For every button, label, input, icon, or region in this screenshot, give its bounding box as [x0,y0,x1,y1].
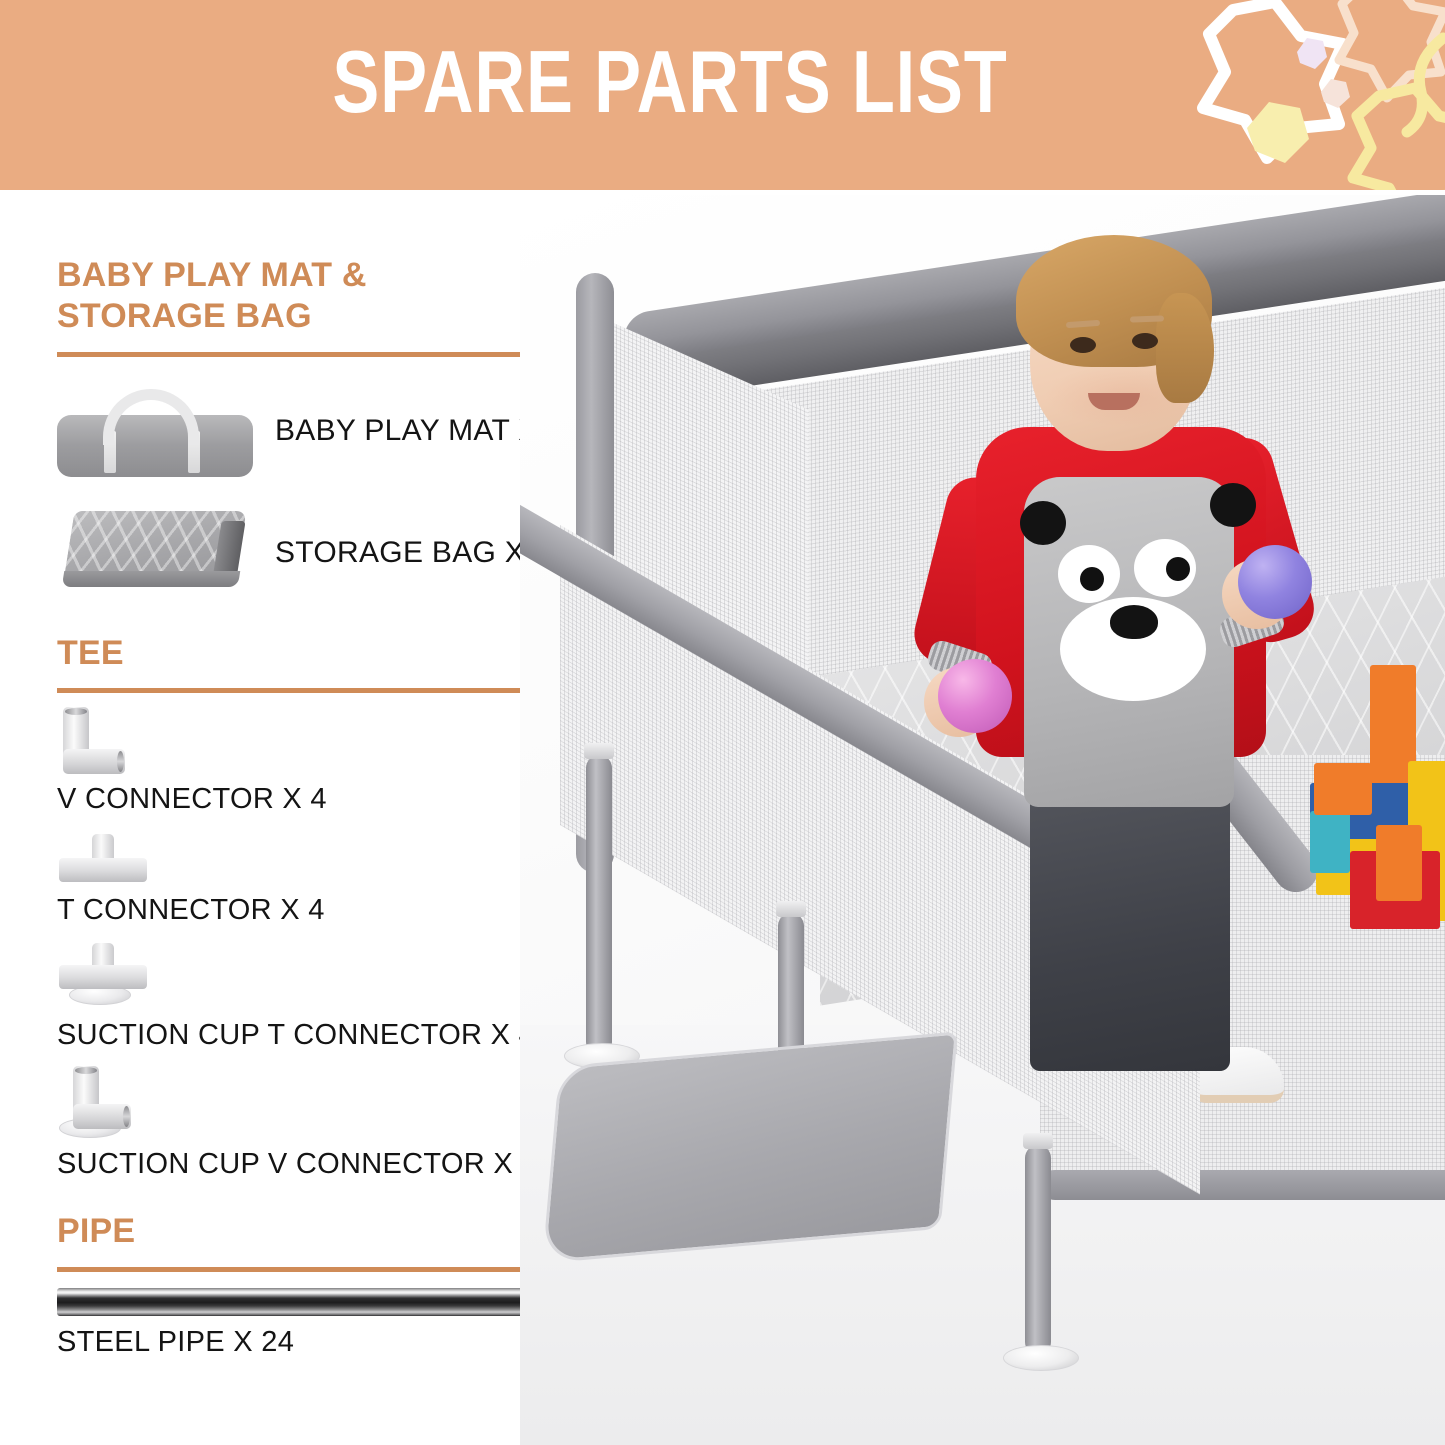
part-item-storage-bag: STORAGE BAG X 1 [57,505,582,601]
part-item-v-connector: V CONNECTOR X 4 [57,707,582,816]
section-divider [57,688,577,693]
section-mat-bag: BABY PLAY MAT & STORAGE BAG BABY PLAY MA… [57,255,582,601]
part-label-storage-bag: STORAGE BAG X 1 [275,536,551,570]
page-title: SPARE PARTS LIST [134,38,1206,126]
part-label-steel-pipe: STEEL PIPE X 24 [57,1326,582,1359]
part-item-suction-cup-v-connector: SUCTION CUP V CONNECTOR X 4 [57,1066,582,1181]
section-divider [57,1267,577,1272]
baby-playpen [520,195,1445,1445]
folded-mat-icon [57,505,257,601]
post-collar-right [1023,1133,1053,1149]
toddler-figure [920,215,1350,1085]
bear-pupil-right [1166,557,1190,581]
part-label-t-connector: T CONNECTOR X 4 [57,894,582,927]
section-heading-pipe: PIPE [57,1211,582,1252]
product-photo [520,195,1445,1445]
pink-ball [938,659,1012,733]
steel-pipe-icon [57,1288,577,1316]
eye-right [1132,333,1158,349]
rail-right-bottom [1040,1170,1445,1200]
part-item-baby-play-mat: BABY PLAY MAT X 1 [57,383,582,479]
part-label-v-connector: V CONNECTOR X 4 [57,783,582,816]
suction-foot-right [1003,1345,1079,1371]
eyebrow-right [1130,315,1164,322]
trousers [1030,771,1230,1071]
part-item-suction-cup-t-connector: SUCTION CUP T CONNECTOR X 4 [57,943,582,1052]
bear-ear-left [1020,501,1066,545]
corner-post-right [1025,1145,1051,1355]
section-tee: TEE V CONNECTOR X 4 T CONNECTOR X 4 SUCT… [57,633,582,1181]
header-band: SPARE PARTS LIST [0,0,1445,190]
suction-cup-t-connector-icon [57,943,153,1015]
bear-pupil-left [1080,567,1104,591]
part-item-t-connector: T CONNECTOR X 4 [57,832,582,927]
carry-bag-icon [57,383,257,479]
corner-post-left [586,755,612,1055]
section-heading-mat-bag: BABY PLAY MAT & STORAGE BAG [57,255,582,338]
outer-mat-flap [542,1031,958,1263]
t-connector-icon [57,832,153,888]
section-pipe: PIPE STEEL PIPE X 24 [57,1211,582,1358]
part-item-steel-pipe: STEEL PIPE X 24 [57,1288,582,1359]
section-divider [57,352,577,357]
eye-left [1070,337,1096,353]
bear-nose [1110,605,1158,639]
bear-ear-right [1210,483,1256,527]
suction-cup-v-connector-icon [57,1066,153,1146]
section-heading-tee: TEE [57,633,582,674]
part-label-suction-cup-t-connector: SUCTION CUP T CONNECTOR X 4 [57,1019,582,1052]
post-collar-left [584,743,614,759]
purple-ball [1238,545,1312,619]
v-connector-icon [57,707,153,777]
part-label-suction-cup-v-connector: SUCTION CUP V CONNECTOR X 4 [57,1148,582,1181]
parts-list-column: BABY PLAY MAT & STORAGE BAG BABY PLAY MA… [57,255,582,1359]
hair-side [1156,293,1214,403]
post-collar-front [776,901,806,917]
